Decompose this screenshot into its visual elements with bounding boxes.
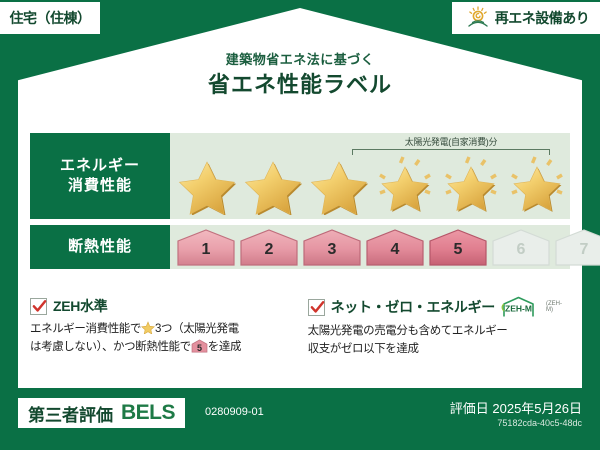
insulation-level-house: 2 — [239, 228, 299, 266]
star-solar — [372, 151, 438, 215]
insulation-performance-label: 断熱性能 — [30, 225, 170, 269]
bels-evaluation-box: 第三者評価 BELS — [18, 398, 185, 428]
insulation-rating-body: 1 2 — [170, 225, 570, 269]
page-title: 省エネ性能ラベル — [0, 70, 600, 101]
criterion-zeh-description: エネルギー消費性能で3つ（太陽光発電は考慮しない）、かつ断熱性能で5を達成 — [30, 321, 286, 357]
energy-rating-body: 太陽光発電(自家消費)分 — [170, 133, 570, 219]
energy-label-line1: エネルギー — [60, 156, 140, 176]
star-inline-icon — [141, 321, 155, 334]
criterion-zeh: ZEH水準 エネルギー消費性能で3つ（太陽光発電は考慮しない）、かつ断熱性能で5… — [30, 296, 294, 359]
insulation-level-house: 1 — [176, 228, 236, 266]
insulation-label-line1: 断熱性能 — [68, 237, 132, 257]
house-inline-number: 5 — [191, 342, 208, 356]
criterion-net-zero-energy: ネット・ゼロ・エネルギー ZEH-M (ZEH-M) 太陽光発電の売電分も含めて… — [294, 296, 570, 359]
zeh-m-sublabel: (ZEH-M) — [546, 301, 562, 313]
criterion-zeh-desc-stars: 3つ（太陽光発電 — [155, 323, 239, 335]
zeh-m-logo-icon: ZEH-M — [499, 296, 539, 318]
sun-renewable-icon — [465, 5, 491, 31]
insulation-level-number: 2 — [239, 241, 299, 259]
label-subtitle: 建築物省エネ法に基づく — [0, 52, 600, 69]
star-plain — [174, 151, 240, 215]
bels-certificate-number: 0280909-01 — [205, 406, 264, 418]
renewable-equipment-badge: 再エネ設備あり — [452, 2, 600, 34]
star-solar — [438, 151, 504, 215]
evaluation-date: 評価日 2025年5月26日 — [450, 398, 582, 417]
insulation-level-number: 1 — [176, 241, 236, 259]
insulation-level-number: 7 — [554, 241, 600, 259]
bels-logo-text: BELS — [121, 401, 175, 425]
insulation-level-number: 3 — [302, 241, 362, 259]
criterion-zeh-title: ZEH水準 — [53, 296, 108, 316]
insulation-performance-row: 断熱性能 1 — [30, 225, 570, 269]
third-party-evaluation-label: 第三者評価 — [28, 401, 113, 426]
insulation-level-number: 5 — [428, 241, 488, 259]
star-plain — [306, 151, 372, 215]
star-solar — [504, 151, 570, 215]
energy-star-rating — [170, 151, 570, 215]
insulation-level-house-inactive: 7 — [554, 228, 600, 266]
insulation-level-number: 4 — [365, 241, 425, 259]
title-block: 建築物省エネ法に基づく 省エネ性能ラベル — [0, 52, 600, 101]
house-inline-icon: 5 — [191, 339, 208, 353]
energy-performance-row: エネルギー 消費性能 太陽光発電(自家消費)分 — [30, 133, 570, 219]
renewable-badge-label: 再エネ設備あり — [495, 8, 590, 28]
checkbox-checked-icon — [30, 298, 47, 315]
insulation-level-house: 4 — [365, 228, 425, 266]
criterion-nze-desc-line2: 収支がゼロ以下を達成 — [308, 343, 419, 355]
ratings-section: エネルギー 消費性能 太陽光発電(自家消費)分 — [30, 133, 570, 275]
criterion-nze-desc-line1: 太陽光発電の売電分も含めてエネルギー — [308, 325, 508, 337]
energy-performance-label: 住宅（住棟） 再エネ設備あり 建築物省エネ法に基づく 省エネ性能ラベル — [0, 0, 600, 450]
building-type-badge-label: 住宅（住棟） — [10, 8, 91, 28]
building-type-badge: 住宅（住棟） — [0, 2, 100, 34]
criterion-zeh-desc-part3: を達成 — [208, 341, 241, 353]
energy-label-line2: 消費性能 — [68, 176, 132, 196]
insulation-level-house: 3 — [302, 228, 362, 266]
checkbox-checked-icon — [308, 299, 325, 316]
solar-bracket-label: 太陽光発電(自家消費)分 — [352, 135, 550, 148]
energy-performance-label: エネルギー 消費性能 — [30, 133, 170, 219]
evaluation-id: 75182cda-40c5-48dc — [497, 418, 582, 428]
star-plain — [240, 151, 306, 215]
criteria-section: ZEH水準 エネルギー消費性能で3つ（太陽光発電は考慮しない）、かつ断熱性能で5… — [30, 296, 570, 359]
insulation-level-scale: 1 2 — [176, 228, 600, 266]
criterion-zeh-header: ZEH水準 — [30, 296, 286, 316]
criterion-zeh-desc-part2: は考慮しない）、かつ断熱性能で — [30, 341, 191, 353]
insulation-level-number: 6 — [491, 241, 551, 259]
criterion-zeh-desc-part1: エネルギー消費性能で — [30, 323, 141, 335]
insulation-level-house-achieved: 5 — [428, 228, 488, 266]
svg-text:ZEH-M: ZEH-M — [505, 304, 532, 314]
criterion-nze-title: ネット・ゼロ・エネルギー — [331, 297, 495, 317]
criterion-nze-header: ネット・ゼロ・エネルギー ZEH-M (ZEH-M) — [308, 296, 562, 318]
footer: 第三者評価 BELS 0280909-01 評価日 2025年5月26日 751… — [0, 388, 600, 450]
insulation-level-house-inactive: 6 — [491, 228, 551, 266]
criterion-nze-description: 太陽光発電の売電分も含めてエネルギー収支がゼロ以下を達成 — [308, 323, 562, 359]
